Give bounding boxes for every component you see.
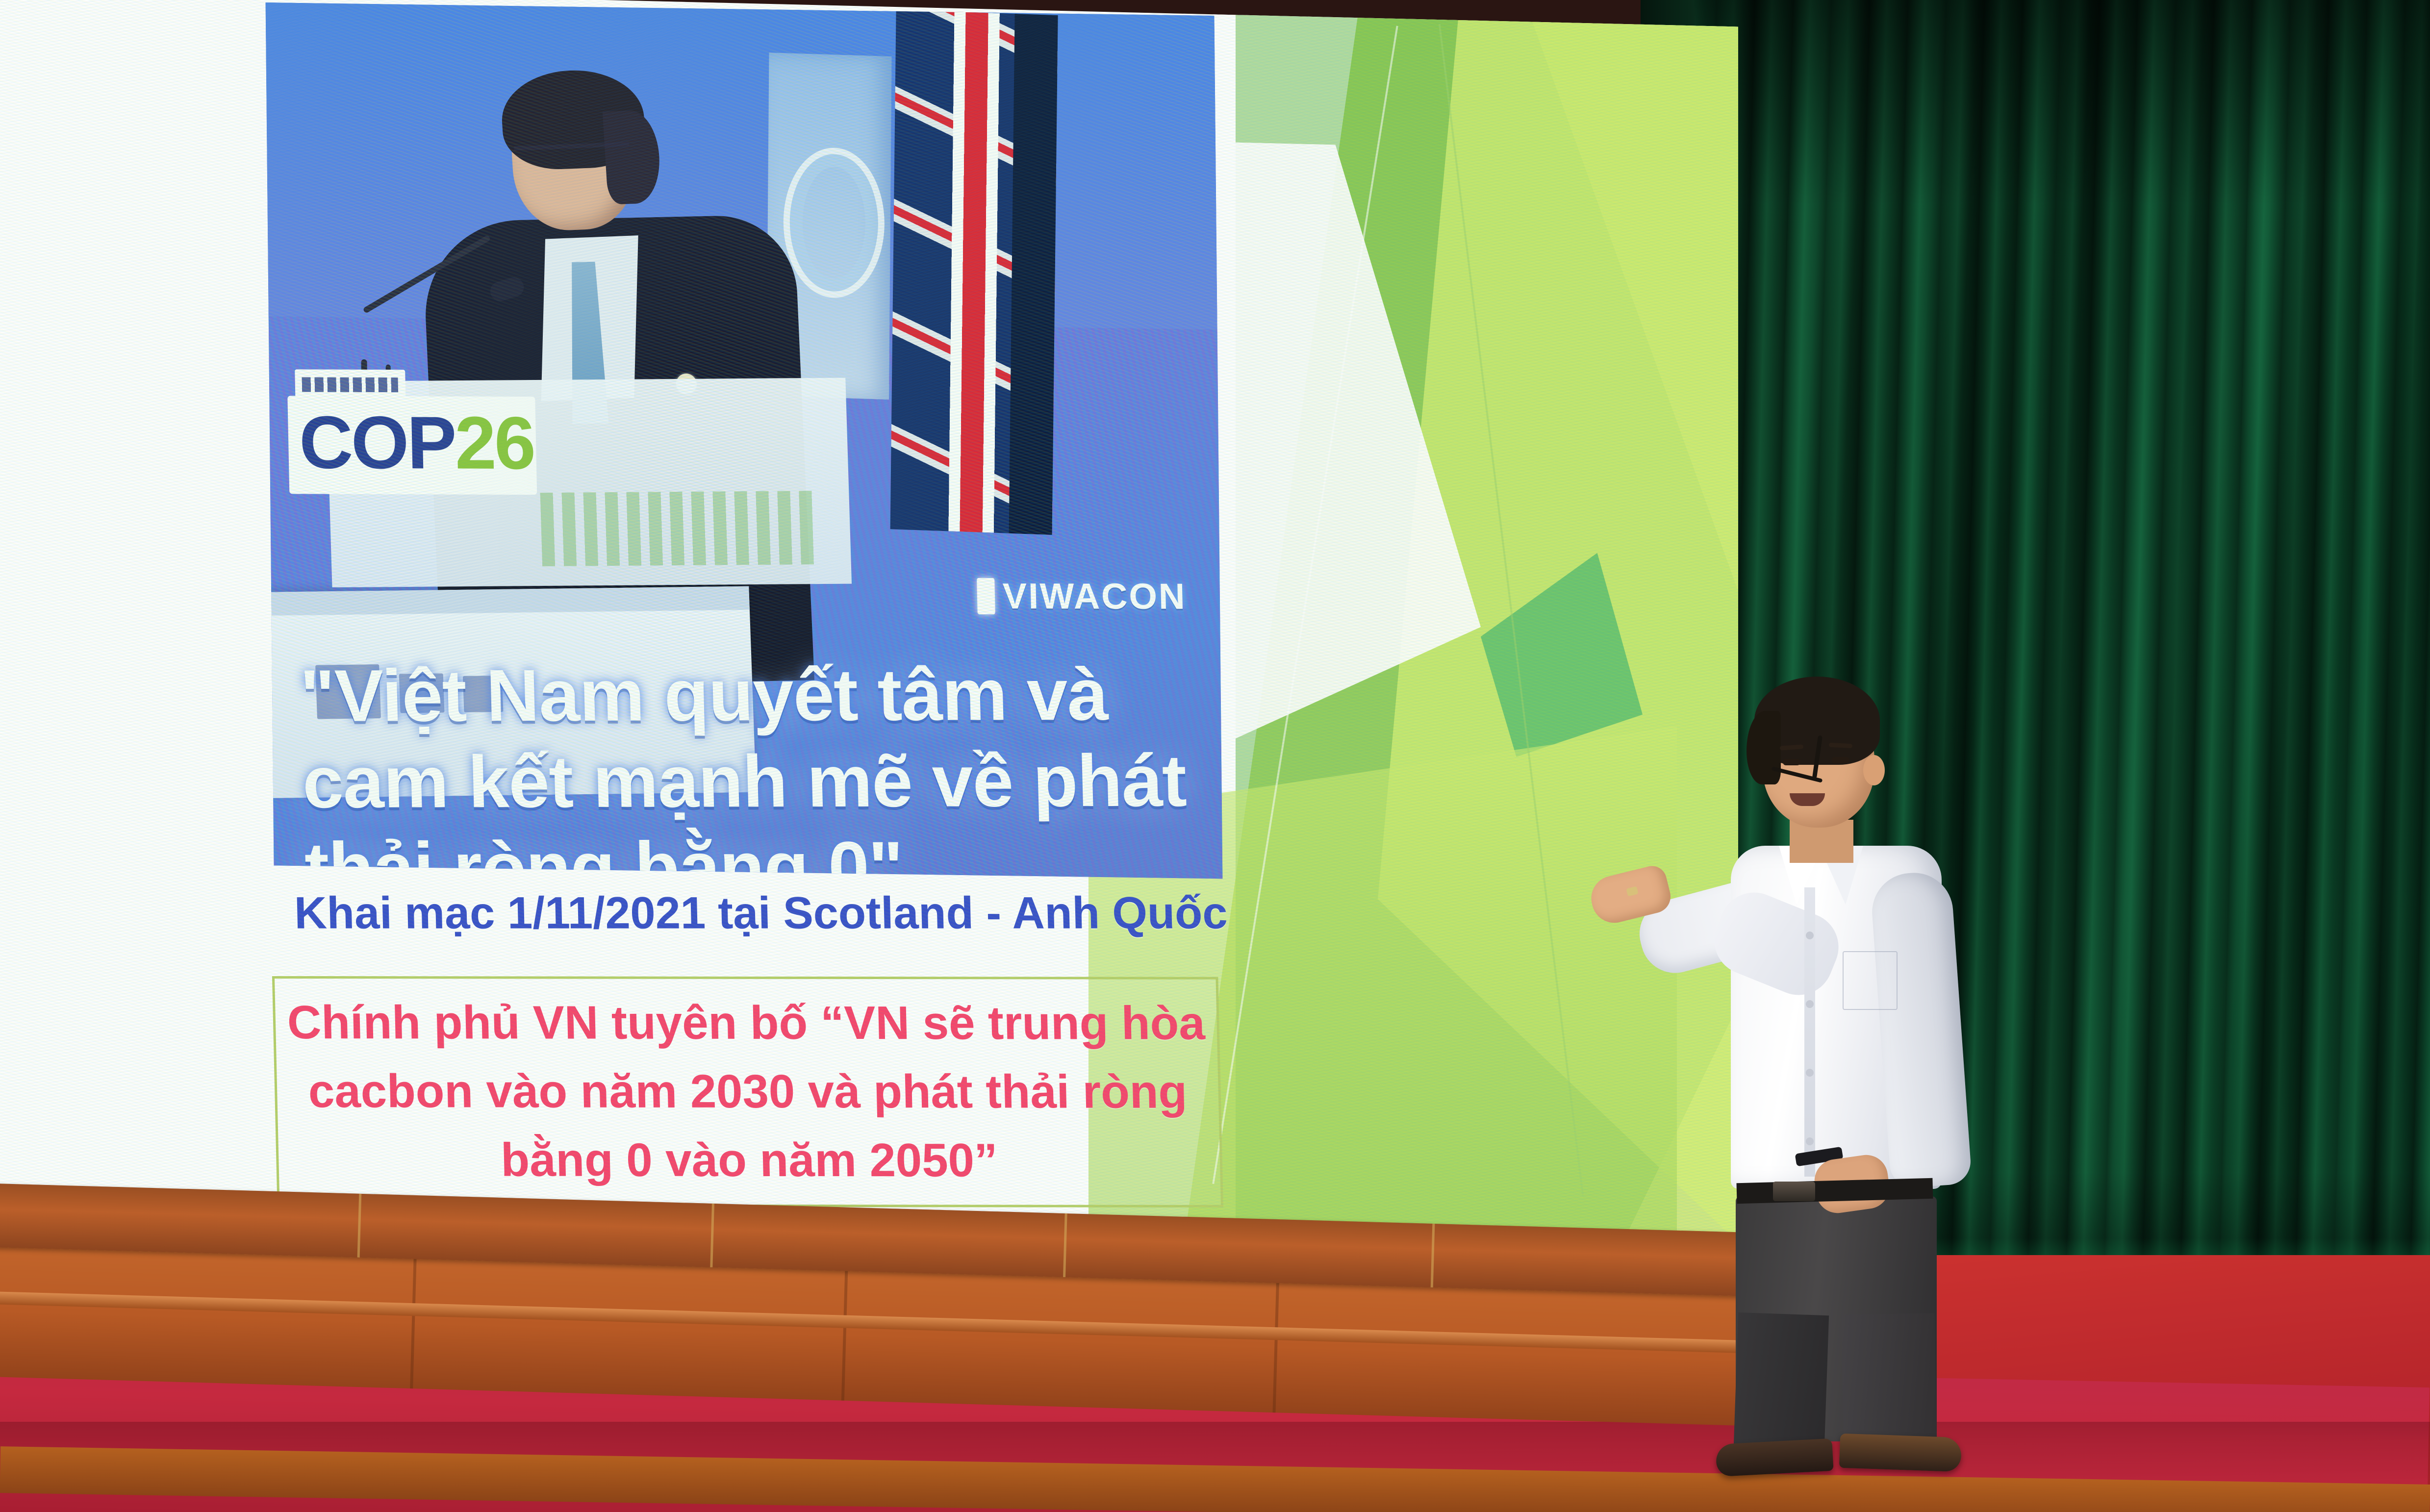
- presenter-shirt-button-4: [1806, 1137, 1814, 1145]
- headline-line-1: "Việt Nam quyết tâm và: [299, 651, 1222, 739]
- presenter-shirt-button-3: [1806, 1069, 1814, 1077]
- presenter-eye-left: [1783, 759, 1800, 765]
- cop26-logo-tagline-graphic: [302, 377, 399, 392]
- conference-stage-scene: COP26 VIWACON "Việt Nam quyết tâm và cam…: [0, 0, 2430, 1512]
- viwacon-wordmark: VIWACON: [1002, 575, 1187, 617]
- presenter-shirt-pocket: [1843, 951, 1898, 1010]
- presenter-shirt-button-2: [1806, 1000, 1814, 1008]
- cop26-number: 26: [454, 402, 534, 485]
- callout-line-2: cacbon vào năm 2030 và phát thải ròng: [308, 1063, 1188, 1121]
- rail-seam-3: [1063, 1213, 1067, 1277]
- rail-seam-2: [710, 1204, 714, 1267]
- flag-edge-shadow: [1009, 14, 1058, 535]
- cop26-logo: COP26: [272, 369, 550, 517]
- presenter: [1657, 677, 2030, 1471]
- presenter-right-shoe: [1839, 1434, 1962, 1472]
- photo-headline: "Việt Nam quyết tâm và cam kết mạnh mẽ v…: [299, 651, 1222, 879]
- curtain-top-shadow: [1641, 0, 2430, 206]
- banner-text-graphics: [540, 491, 817, 566]
- viwacon-logo: VIWACON: [977, 575, 1187, 617]
- cop26-wordmark: COP26: [298, 401, 534, 485]
- slide-callout-box: Chính phủ VN tuyên bố “VN sẽ trung hòa c…: [272, 976, 1223, 1208]
- presenter-belt-buckle: [1773, 1182, 1815, 1201]
- rail-seam-1: [357, 1194, 362, 1258]
- presenter-hair-sideburn: [1747, 711, 1781, 784]
- rail-seam-4: [1431, 1224, 1435, 1287]
- presenter-left-shoe: [1715, 1438, 1833, 1477]
- union-jack-flag: [890, 10, 1058, 535]
- presenter-eye-right: [1832, 757, 1849, 763]
- presenter-ear: [1863, 755, 1885, 785]
- callout-text: Chính phủ VN tuyên bố “VN sẽ trung hòa c…: [275, 979, 1221, 1205]
- cop26-logo-plate: COP26: [287, 396, 537, 495]
- cop26-word: COP: [298, 401, 456, 484]
- news-photo: COP26 VIWACON "Việt Nam quyết tâm và cam…: [266, 2, 1223, 879]
- headline-line-2: cam kết mạnh mẽ về phát: [302, 737, 1223, 825]
- callout-line-1: Chính phủ VN tuyên bố “VN sẽ trung hòa: [287, 994, 1206, 1052]
- projection-screen: COP26 VIWACON "Việt Nam quyết tâm và cam…: [0, 0, 1738, 1282]
- viwacon-logo-mark: [977, 578, 995, 614]
- callout-line-3: bằng 0 vào năm 2050”: [500, 1132, 998, 1189]
- presenter-shirt-placket: [1804, 887, 1815, 1177]
- presenter-shirt-button-1: [1806, 932, 1814, 939]
- slide-canvas: COP26 VIWACON "Việt Nam quyết tâm và cam…: [0, 0, 1738, 1282]
- slide-caption: Khai mạc 1/11/2021 tại Scotland - Anh Qu…: [294, 886, 1236, 940]
- speaker-glasses: [514, 142, 631, 172]
